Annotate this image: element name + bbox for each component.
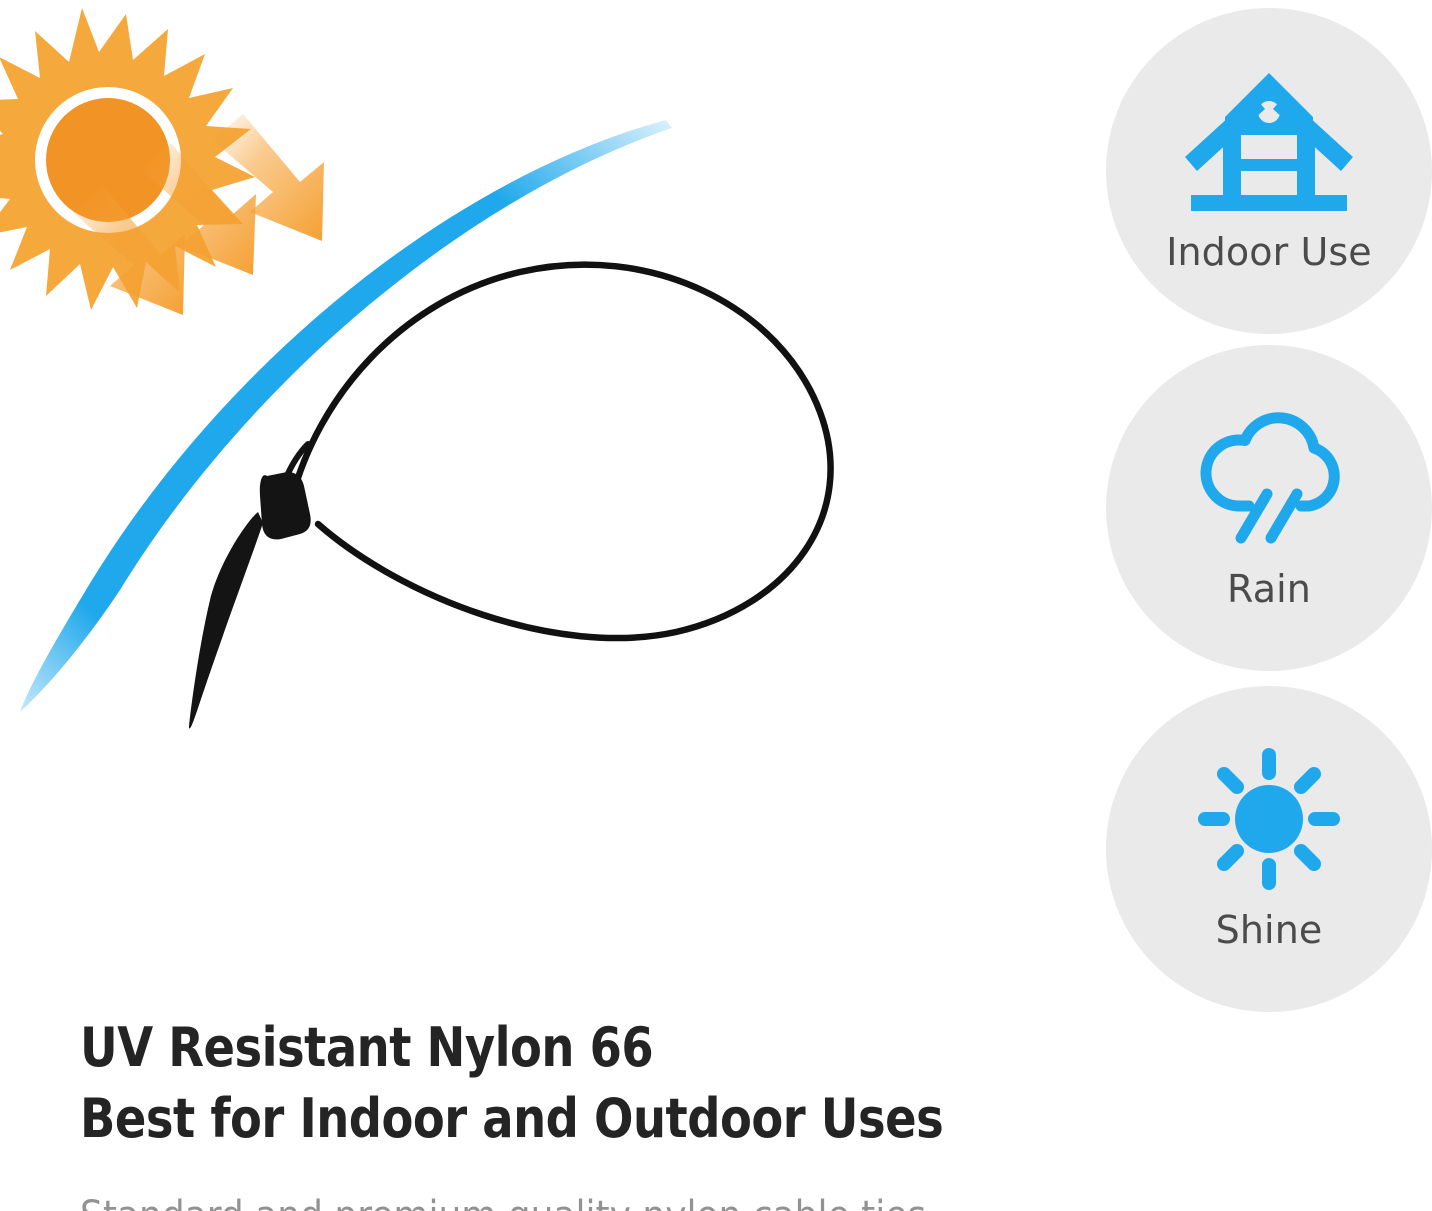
- uv-resistance-illustration: [0, 0, 1090, 980]
- sun-burst-icon: [0, 8, 255, 310]
- badge-label-indoor-use: Indoor Use: [1166, 233, 1372, 271]
- feature-badge-shine[interactable]: Shine: [1106, 686, 1432, 1012]
- badge-label-rain: Rain: [1227, 570, 1311, 608]
- headline-block: UV Resistant Nylon 66 Best for Indoor an…: [80, 1012, 1080, 1155]
- sun-icon: [1183, 743, 1355, 895]
- cable-tie-tail: [189, 512, 263, 728]
- subcaption-text: Standard and premium quality nylon cable…: [80, 1196, 1034, 1211]
- badge-label-shine: Shine: [1216, 911, 1323, 949]
- cable-tie: [189, 265, 831, 729]
- headline-line-1: UV Resistant Nylon 66: [80, 1012, 940, 1083]
- product-infographic: Indoor Use Rain: [0, 0, 1432, 1211]
- feature-badge-rain[interactable]: Rain: [1106, 345, 1432, 671]
- cable-tie-head: [260, 472, 311, 539]
- feature-badge-column: Indoor Use Rain: [1106, 8, 1432, 1020]
- feature-badge-indoor-use[interactable]: Indoor Use: [1106, 8, 1432, 334]
- headline-line-2: Best for Indoor and Outdoor Uses: [80, 1083, 940, 1154]
- rain-cloud-icon: [1183, 402, 1355, 554]
- subcaption-clipped: Standard and premium quality nylon cable…: [80, 1196, 1140, 1211]
- house-icon: [1183, 65, 1355, 217]
